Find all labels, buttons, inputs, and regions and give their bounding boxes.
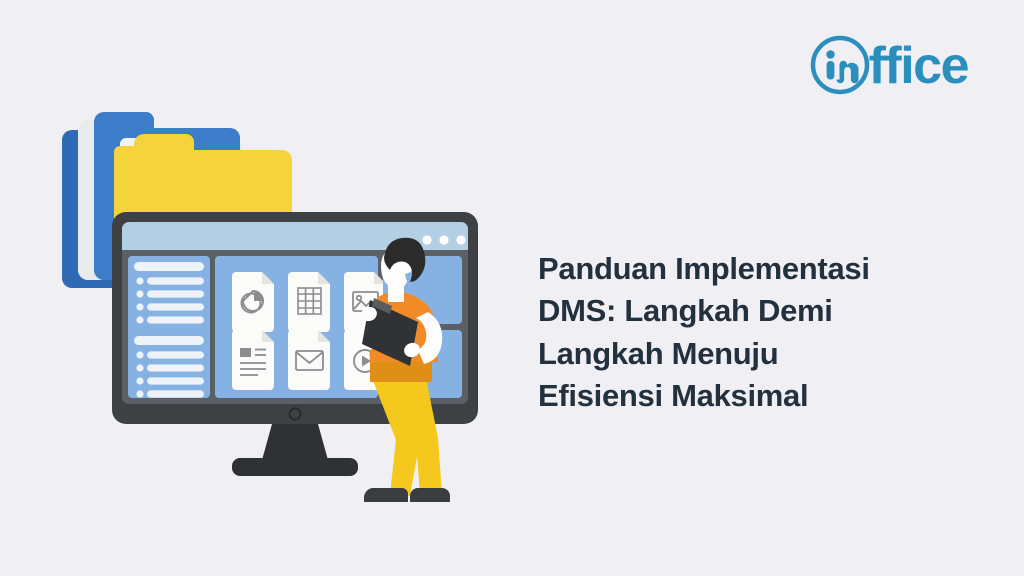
sidebar-group-header-1 — [134, 262, 204, 271]
logo-circle-in-icon — [809, 34, 871, 96]
titlebar-dot-2[interactable] — [439, 235, 448, 244]
screen-document-grid — [215, 256, 386, 398]
logo-wordmark: ffice — [869, 40, 968, 92]
sidebar-group-header-2 — [134, 336, 204, 345]
slide-canvas: ffice Panduan Implementasi DMS: Langkah … — [0, 0, 1024, 576]
doc-tile-spreadsheet[interactable] — [288, 272, 330, 332]
page-title-line-4: Efisiensi Maksimal — [538, 375, 990, 417]
titlebar-dot-3[interactable] — [456, 235, 465, 244]
doc-tile-pie-chart[interactable] — [232, 272, 274, 332]
page-title-line-3: Langkah Menuju — [538, 333, 990, 375]
page-title-line-2: DMS: Langkah Demi — [538, 290, 990, 332]
person-shoe-back — [364, 488, 408, 502]
titlebar-dot-1[interactable] — [422, 235, 431, 244]
hero-illustration — [0, 0, 512, 576]
doc-tile-text-document[interactable] — [232, 330, 274, 390]
doc-tile-email[interactable] — [288, 330, 330, 390]
brand-logo[interactable]: ffice — [809, 34, 968, 96]
screen-sidebar — [128, 256, 210, 398]
monitor-base — [232, 458, 358, 476]
person-shoe-front — [410, 488, 450, 502]
page-title: Panduan Implementasi DMS: Langkah Demi L… — [538, 248, 990, 418]
page-title-line-1: Panduan Implementasi — [538, 248, 990, 290]
